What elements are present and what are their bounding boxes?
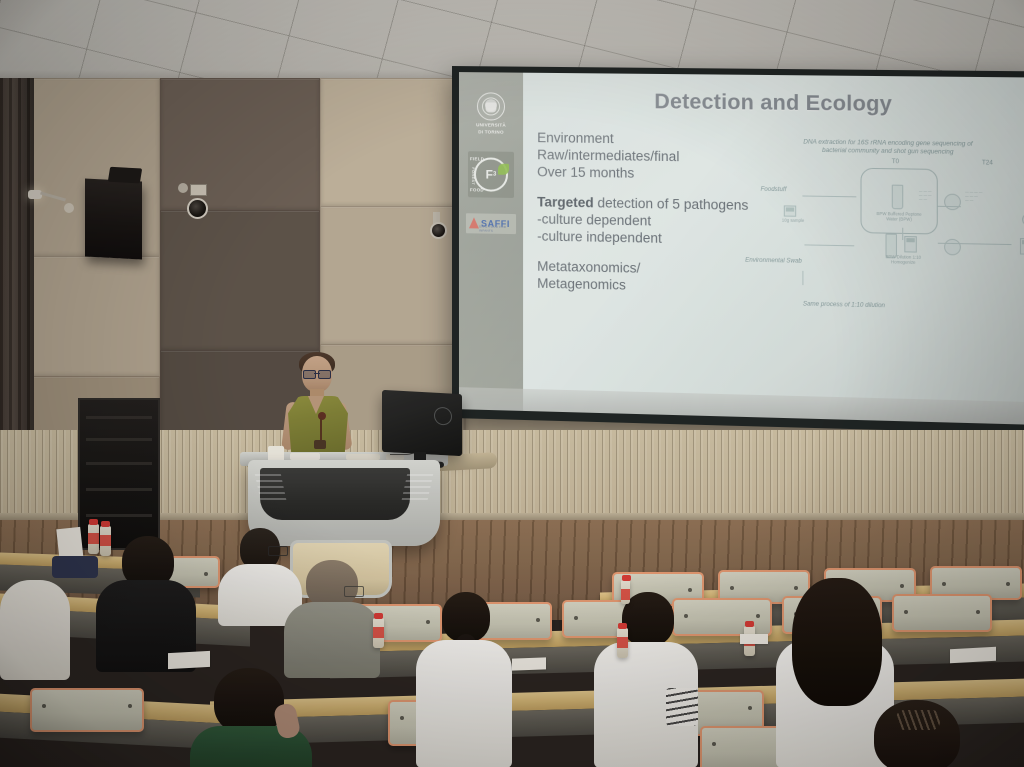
lanyard-cord bbox=[320, 418, 322, 442]
attendee-ponytail-white bbox=[416, 592, 512, 767]
targeted-rest: detection of 5 pathogens bbox=[594, 195, 749, 213]
saffi-logo: SAFFI SAFE FOOD FOR INFANTS bbox=[466, 213, 516, 234]
attendee-torso bbox=[284, 602, 380, 678]
diagram-label-env-swab: Environmental Swab bbox=[743, 257, 805, 264]
leaf-icon bbox=[498, 163, 509, 174]
attendee-long-hair bbox=[792, 578, 882, 706]
wall-speaker bbox=[85, 179, 142, 260]
f3-logo: FIELD FOREST FOOD F3 bbox=[468, 151, 514, 198]
attendee-front-right bbox=[862, 700, 982, 767]
diagram-text-block-2: — — — —— — —— — bbox=[965, 190, 1020, 204]
unito-logo: UNIVERSITÀ DI TORINO bbox=[472, 92, 510, 135]
diagram-label-foodstuff: Foodstuff bbox=[747, 186, 801, 193]
f3-superscript: 3 bbox=[493, 171, 496, 177]
diagram-timepoint-t0: T0 bbox=[892, 159, 899, 165]
lecture-hall-photo: UNIVERSITÀ DI TORINO FIELD FOREST FOOD F… bbox=[0, 0, 1024, 767]
slide-logo-sidebar: UNIVERSITÀ DI TORINO FIELD FOREST FOOD F… bbox=[459, 72, 523, 411]
diagram-arrow-3 bbox=[938, 206, 961, 207]
water-bottle-4 bbox=[621, 580, 630, 604]
targeted-bold: Targeted bbox=[537, 194, 594, 210]
water-bottle-2 bbox=[617, 628, 628, 658]
attendee-head bbox=[306, 560, 358, 608]
diagram-note-bpw: BPW Buffered Peptone Water (BPW) bbox=[871, 211, 927, 222]
diagram-sample-icon bbox=[784, 205, 796, 216]
attendee-grey-polo bbox=[284, 560, 380, 670]
paper-2 bbox=[512, 657, 546, 670]
paper-4 bbox=[950, 647, 996, 663]
diagram-tube-1 bbox=[904, 236, 917, 253]
lectern-vent-right bbox=[401, 474, 433, 504]
chair-b6 bbox=[892, 594, 992, 632]
attendee-torso bbox=[0, 580, 70, 680]
attendee-striped-white bbox=[594, 592, 698, 767]
diagram-label-dilution: Same process of 1:10 dilution bbox=[782, 301, 907, 310]
presentation-slide: UNIVERSITÀ DI TORINO FIELD FOREST FOOD F… bbox=[459, 72, 1024, 425]
unito-logo-line2: DI TORINO bbox=[478, 130, 503, 136]
diagram-text-block-1: — — —— — —— — bbox=[919, 189, 963, 203]
glasses-icon bbox=[344, 586, 364, 597]
diagram-arrow-2 bbox=[804, 244, 854, 246]
wall-camera-2-icon bbox=[430, 222, 447, 239]
f3-mark: F bbox=[486, 168, 493, 180]
camera-mount bbox=[178, 183, 188, 193]
shirt-stripes bbox=[666, 688, 698, 726]
wall-spotlight bbox=[28, 190, 42, 199]
diagram-dish-2 bbox=[944, 239, 961, 256]
saffi-subtitle: SAFE FOOD FOR INFANTS bbox=[479, 224, 516, 233]
paper-1 bbox=[168, 651, 210, 669]
workflow-diagram: DNA extraction for 16S rRNA encoding gen… bbox=[741, 138, 1024, 348]
slide-title: Detection and Ecology bbox=[537, 89, 1013, 119]
diagram-arrow-1 bbox=[802, 195, 856, 197]
diagram-timepoint-t24: T24 bbox=[982, 160, 993, 166]
diagram-arrow-5 bbox=[902, 228, 903, 240]
slide-body: Detection and Ecology Environment Raw/in… bbox=[523, 73, 1024, 425]
wall-camera-icon bbox=[187, 198, 208, 219]
unito-seal-icon bbox=[477, 92, 505, 120]
podium-paper bbox=[290, 453, 320, 460]
attendee-black-shirt bbox=[96, 536, 196, 666]
glasses-icon bbox=[303, 370, 331, 377]
glasses-icon bbox=[268, 546, 288, 556]
diagram-note-sample: 10g sample bbox=[778, 217, 809, 223]
attendee-far-left bbox=[0, 556, 84, 676]
attendee-hair bbox=[214, 668, 284, 734]
presenter-badge bbox=[314, 440, 326, 449]
paper-3 bbox=[740, 634, 768, 644]
diagram-vial-1 bbox=[892, 185, 903, 210]
water-bottle-1 bbox=[373, 618, 384, 648]
camera-housing bbox=[190, 184, 207, 196]
saffi-triangle-icon bbox=[469, 217, 479, 228]
diagram-note-dilution: BPW Dilution 1:10 Homogenize bbox=[873, 254, 934, 265]
screen-surface: UNIVERSITÀ DI TORINO FIELD FOREST FOOD F… bbox=[459, 72, 1024, 425]
hair-clip-icon bbox=[896, 710, 940, 730]
f3-ring-icon: F3 bbox=[474, 157, 508, 192]
unito-logo-line1: UNIVERSITÀ bbox=[476, 122, 506, 128]
hp-logo-icon bbox=[434, 407, 452, 426]
podium-monitor bbox=[382, 390, 462, 456]
diagram-caption: DNA extraction for 16S rRNA encoding gen… bbox=[798, 138, 977, 157]
diagram-tube-2 bbox=[1020, 238, 1024, 255]
projection-screen: UNIVERSITÀ DI TORINO FIELD FOREST FOOD F… bbox=[452, 66, 1024, 434]
diagram-arrow-6 bbox=[802, 271, 803, 285]
chair-c0 bbox=[30, 688, 144, 732]
attendee-green-shirt bbox=[190, 668, 312, 767]
attendee-torso bbox=[416, 640, 512, 767]
